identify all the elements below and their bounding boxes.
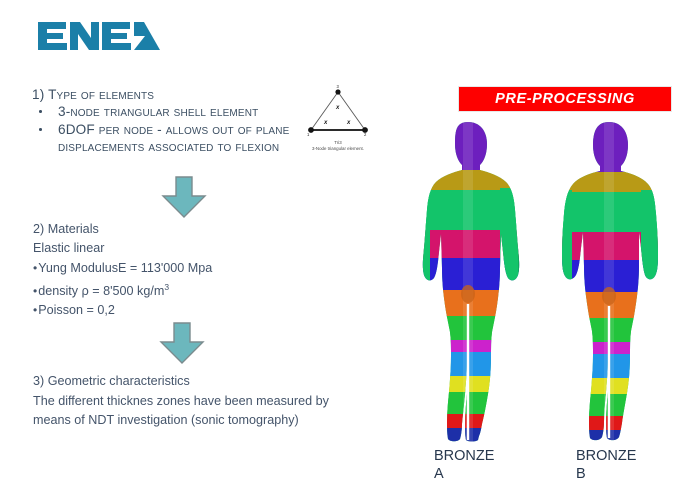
section2-line-density: density ρ = 8'500 kg/m3: [33, 278, 313, 301]
list-item: 6DOF per node - allows out of plane disp…: [32, 121, 298, 156]
slide-canvas: 1) Type of elements 3-node triangular sh…: [0, 0, 700, 496]
bullet-dot-icon: [39, 128, 42, 131]
section1-bullet-2-text: 6DOF per node - allows out of plane disp…: [58, 122, 289, 154]
section2-subheading: Elastic linear: [33, 239, 313, 258]
triangle-caption-line2: 3-Node triangular element.: [296, 146, 380, 152]
section3-body-line2: means of NDT investigation (sonic tomogr…: [33, 411, 363, 431]
section2-line-modulus: Yung ModulusE = 113'000 Mpa: [33, 259, 313, 278]
enea-logo-icon: [36, 14, 162, 58]
triangle-node-label-2: 2: [364, 132, 367, 137]
section1-bullet-1-text: 3-node triangular shell element: [58, 104, 258, 119]
triangle-node-label-3: 3: [337, 84, 340, 89]
pre-processing-banner-label: PRE-PROCESSING: [495, 91, 635, 107]
bronze-b-label-line2: B: [576, 466, 636, 484]
triangle-diagram-caption: Tri3 3-Node triangular element.: [296, 140, 380, 153]
down-arrow-icon: [152, 174, 214, 220]
section2-heading: 2) Materials: [33, 220, 313, 239]
human-body-zone-map-a: [408, 118, 528, 448]
section2-line-poisson: Poisson = 0,2: [33, 301, 313, 320]
down-arrow-icon: [150, 320, 212, 366]
bronze-a-label: BRONZE A: [434, 448, 494, 483]
down-arrow-shape-1: [152, 174, 214, 220]
bronze-b-model-figure: [548, 118, 668, 448]
triangle-element-icon: 3 1 2 x x x: [296, 82, 380, 142]
triangular-element-diagram: 3 1 2 x x x Tri3 3-Node triangular eleme…: [296, 82, 380, 164]
list-item: 3-node triangular shell element: [32, 103, 298, 120]
section1-bullet-list: 3-node triangular shell element 6DOF per…: [32, 103, 298, 155]
triangle-node-label-1: 1: [307, 132, 310, 137]
bullet-dot-icon: [39, 110, 42, 113]
integration-point-mark: x: [323, 120, 328, 126]
section-type-of-elements: 1) Type of elements 3-node triangular sh…: [32, 86, 298, 156]
section3-body-line1: The different thicknes zones have been m…: [33, 392, 363, 412]
section-geometric-characteristics: 3) Geometric characteristics The differe…: [33, 372, 363, 431]
section1-heading: 1) Type of elements: [32, 86, 298, 103]
bronze-a-model-figure: [408, 118, 528, 448]
bronze-a-label-line2: A: [434, 466, 494, 484]
integration-point-mark: x: [346, 120, 351, 126]
section3-heading: 3) Geometric characteristics: [33, 372, 363, 392]
pre-processing-banner: PRE-PROCESSING: [458, 86, 672, 112]
human-body-zone-map-b: [548, 118, 668, 448]
integration-point-mark: x: [335, 105, 340, 111]
enea-logo: [36, 14, 162, 58]
bronze-b-label-line1: BRONZE: [576, 448, 636, 466]
anatomical-detail: [602, 287, 616, 305]
bronze-a-label-line1: BRONZE: [434, 448, 494, 466]
section-materials: 2) Materials Elastic linear Yung Modulus…: [33, 220, 313, 321]
bronze-b-label: BRONZE B: [576, 448, 636, 483]
anatomical-detail: [461, 285, 475, 303]
density-exponent: 3: [164, 282, 169, 292]
down-arrow-shape-2: [150, 320, 212, 366]
